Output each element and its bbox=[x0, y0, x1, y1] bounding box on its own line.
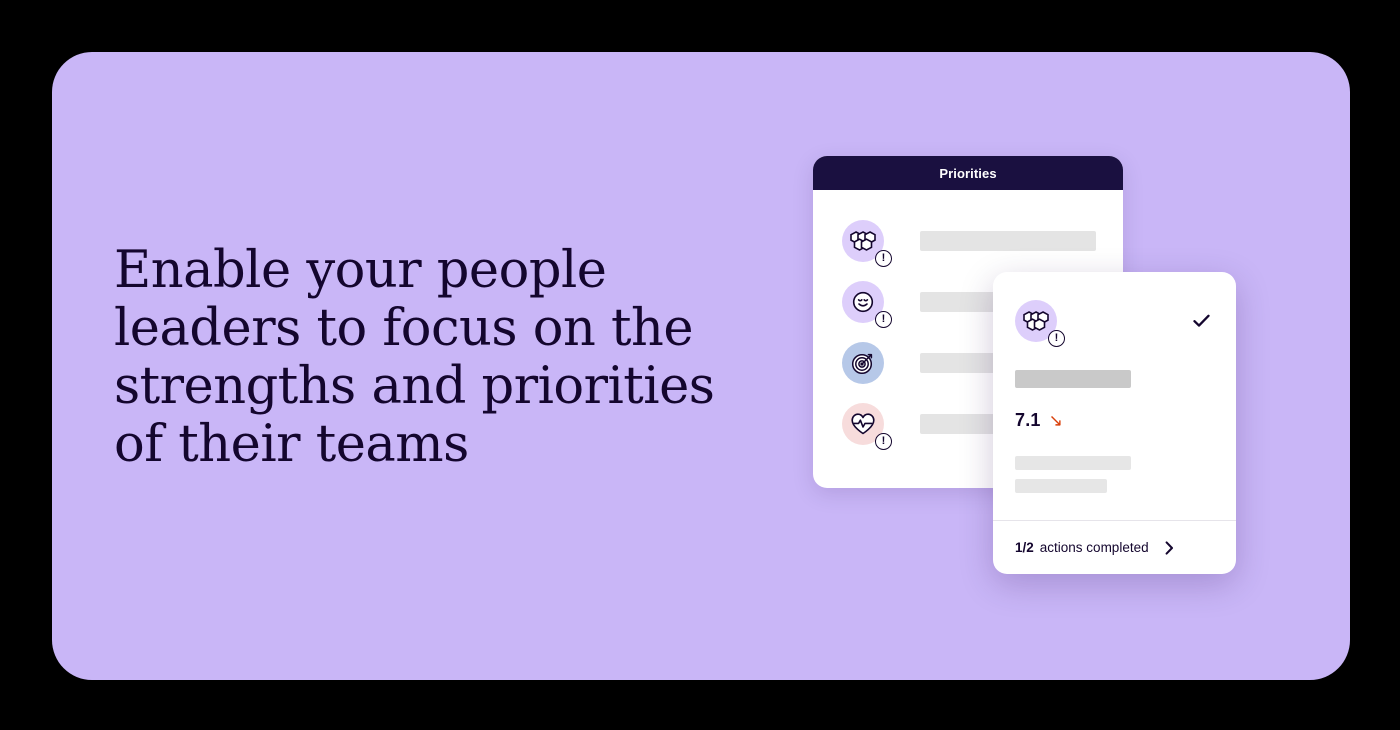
purple-panel: Enable your people leaders to focus on t… bbox=[52, 52, 1350, 680]
honeycomb-icon: ! bbox=[842, 220, 884, 262]
actions-label: actions completed bbox=[1040, 540, 1149, 555]
target-icon bbox=[842, 342, 884, 384]
heartbeat-icon: ! bbox=[842, 403, 884, 445]
check-icon[interactable] bbox=[1193, 314, 1210, 333]
chevron-right-icon[interactable] bbox=[1165, 541, 1174, 555]
arrow-down-right-icon: ↘ bbox=[1049, 412, 1063, 429]
smiley-icon: ! bbox=[842, 281, 884, 323]
popup-header-row: ! bbox=[1015, 300, 1214, 342]
priorities-card-header: Priorities bbox=[813, 156, 1123, 190]
alert-badge-icon: ! bbox=[875, 311, 892, 328]
priority-detail-popup: ! 7.1 ↘ 1/2 actions completed bbox=[993, 272, 1236, 574]
list-item[interactable]: ! bbox=[813, 210, 1123, 271]
alert-badge-icon: ! bbox=[875, 250, 892, 267]
alert-badge-icon: ! bbox=[1048, 330, 1065, 347]
page-title: Enable your people leaders to focus on t… bbox=[114, 242, 774, 474]
popup-placeholder-bar-2 bbox=[1015, 479, 1107, 493]
score-row: 7.1 ↘ bbox=[1015, 410, 1214, 431]
score-value: 7.1 bbox=[1015, 410, 1041, 431]
honeycomb-icon: ! bbox=[1015, 300, 1057, 342]
row-placeholder-bar bbox=[920, 231, 1096, 251]
popup-placeholder-bar-title bbox=[1015, 370, 1131, 388]
priorities-card-title: Priorities bbox=[939, 166, 996, 181]
popup-placeholder-bar-1 bbox=[1015, 456, 1131, 470]
popup-footer[interactable]: 1/2 actions completed bbox=[993, 520, 1236, 574]
alert-badge-icon: ! bbox=[875, 433, 892, 450]
popup-content: ! 7.1 ↘ bbox=[993, 272, 1236, 520]
actions-count: 1/2 bbox=[1015, 540, 1034, 555]
